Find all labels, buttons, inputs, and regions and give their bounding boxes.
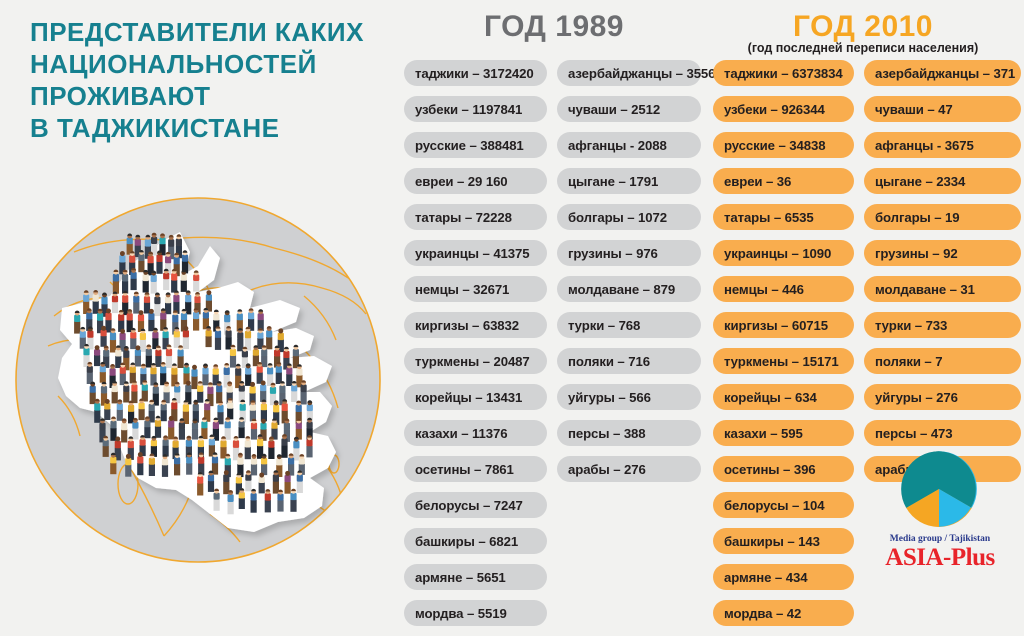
list-item-2010: персы – 473 (864, 420, 1021, 446)
list-item-2010: уйгуры – 276 (864, 384, 1021, 410)
list-item-1989: немцы – 32671 (404, 276, 547, 302)
list-item-2010: армяне – 434 (713, 564, 854, 590)
pie-mark-icon (898, 448, 980, 530)
list-item-2010: туркмены – 15171 (713, 348, 854, 374)
list-item-2010: русские – 34838 (713, 132, 854, 158)
list-item-2010: казахи – 595 (713, 420, 854, 446)
list-2010-left: таджики – 6373834узбеки – 926344русские … (713, 60, 854, 636)
list-item-1989: афганцы - 2088 (557, 132, 701, 158)
list-item-1989: цыгане – 1791 (557, 168, 701, 194)
list-item-2010: грузины – 92 (864, 240, 1021, 266)
header-year-2010: ГОД 2010 (713, 10, 1013, 44)
infographic-page: ПРЕДСТАВИТЕЛИ КАКИХ НАЦИОНАЛЬНОСТЕЙ ПРОЖ… (0, 0, 1024, 576)
header-year-1989: ГОД 1989 (404, 10, 704, 44)
list-item-1989: арабы – 276 (557, 456, 701, 482)
list-item-1989: русские – 388481 (404, 132, 547, 158)
list-item-1989: белорусы – 7247 (404, 492, 547, 518)
list-item-1989: осетины – 7861 (404, 456, 547, 482)
header-year-2010-subtitle: (год последней переписи населения) (713, 41, 1013, 55)
list-item-1989: армяне – 5651 (404, 564, 547, 590)
globe-svg (14, 196, 382, 564)
list-item-1989: узбеки – 1197841 (404, 96, 547, 122)
list-item-1989: башкиры – 6821 (404, 528, 547, 554)
list-item-2010: цыгане – 2334 (864, 168, 1021, 194)
list-item-2010: таджики – 6373834 (713, 60, 854, 86)
list-item-1989: поляки – 716 (557, 348, 701, 374)
list-item-2010: башкиры – 143 (713, 528, 854, 554)
list-1989-right: азербайджанцы – 3556чуваши – 2512афганцы… (557, 60, 701, 492)
list-item-1989: корейцы – 13431 (404, 384, 547, 410)
list-item-1989: турки – 768 (557, 312, 701, 338)
list-item-2010: киргизы – 60715 (713, 312, 854, 338)
list-item-2010: афганцы - 3675 (864, 132, 1021, 158)
list-item-2010: евреи – 36 (713, 168, 854, 194)
list-item-1989: украинцы – 41375 (404, 240, 547, 266)
asia-plus-logo[interactable]: Media group / Tajikistan ASIA-Plus (874, 448, 1006, 566)
list-item-2010: молдаване – 31 (864, 276, 1021, 302)
list-1989-left: таджики – 3172420узбеки – 1197841русские… (404, 60, 547, 636)
list-item-2010: поляки – 7 (864, 348, 1021, 374)
page-title: ПРЕДСТАВИТЕЛИ КАКИХ НАЦИОНАЛЬНОСТЕЙ ПРОЖ… (30, 16, 410, 144)
title-line-3: ПРОЖИВАЮТ (30, 80, 410, 112)
list-item-2010: украинцы – 1090 (713, 240, 854, 266)
list-item-2010: узбеки – 926344 (713, 96, 854, 122)
title-line-1: ПРЕДСТАВИТЕЛИ КАКИХ (30, 16, 410, 48)
list-item-2010: немцы – 446 (713, 276, 854, 302)
list-item-2010: белорусы – 104 (713, 492, 854, 518)
list-item-2010: болгары – 19 (864, 204, 1021, 230)
list-item-1989: казахи – 11376 (404, 420, 547, 446)
list-item-1989: грузины – 976 (557, 240, 701, 266)
title-line-2: НАЦИОНАЛЬНОСТЕЙ (30, 48, 410, 80)
list-item-2010: чуваши – 47 (864, 96, 1021, 122)
globe-illustration (14, 196, 382, 564)
list-item-1989: татары – 72228 (404, 204, 547, 230)
logo-media-group-text: Media group / Tajikistan (874, 534, 1006, 544)
list-item-1989: персы – 388 (557, 420, 701, 446)
list-item-2010: осетины – 396 (713, 456, 854, 482)
list-item-1989: азербайджанцы – 3556 (557, 60, 701, 86)
list-item-2010: мордва – 42 (713, 600, 854, 626)
list-item-1989: болгары – 1072 (557, 204, 701, 230)
list-item-1989: чуваши – 2512 (557, 96, 701, 122)
list-item-1989: мордва – 5519 (404, 600, 547, 626)
list-item-2010: корейцы – 634 (713, 384, 854, 410)
list-2010-right: азербайджанцы – 371чуваши – 47афганцы - … (864, 60, 1021, 492)
list-item-1989: таджики – 3172420 (404, 60, 547, 86)
list-item-2010: татары – 6535 (713, 204, 854, 230)
list-item-1989: туркмены – 20487 (404, 348, 547, 374)
list-item-2010: азербайджанцы – 371 (864, 60, 1021, 86)
list-item-2010: турки – 733 (864, 312, 1021, 338)
title-line-4: В ТАДЖИКИСТАНЕ (30, 112, 410, 144)
list-item-1989: молдаване – 879 (557, 276, 701, 302)
list-item-1989: евреи – 29 160 (404, 168, 547, 194)
list-item-1989: киргизы – 63832 (404, 312, 547, 338)
logo-brand-text: ASIA-Plus (874, 544, 1006, 572)
list-item-1989: уйгуры – 566 (557, 384, 701, 410)
